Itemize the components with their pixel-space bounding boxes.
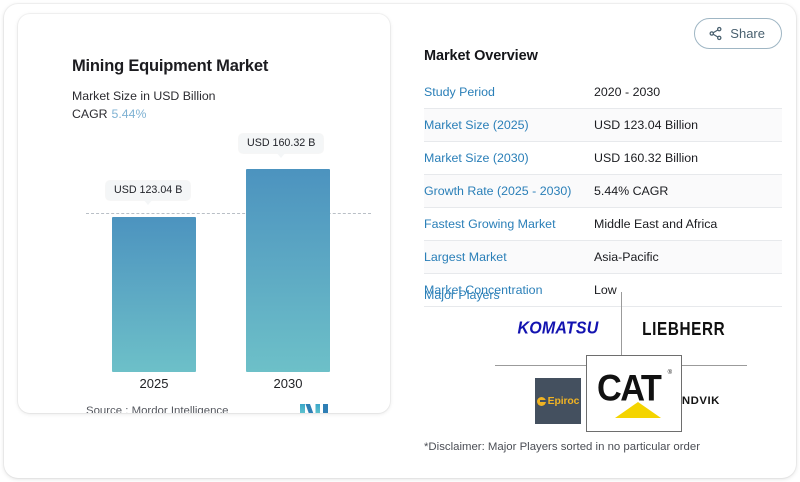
bar-value-label-2030: USD 160.32 B: [239, 134, 323, 153]
row-value: Asia-Pacific: [594, 241, 782, 274]
x-axis-tick-2030: 2030: [246, 376, 330, 391]
chart-card: Mining Equipment Market Market Size in U…: [18, 14, 390, 413]
market-overview-panel: Market Overview Study Period 2020 - 2030…: [424, 48, 782, 307]
table-row: Market Size (2025) USD 123.04 Billion: [424, 109, 782, 142]
cat-logo: CAT ®: [586, 355, 682, 432]
x-axis-tick-2025: 2025: [112, 376, 196, 391]
epiroc-wordmark: Epiroc: [548, 396, 580, 407]
row-key: Fastest Growing Market: [424, 208, 594, 241]
share-button[interactable]: Share: [694, 18, 782, 49]
row-value: 5.44% CAGR: [594, 175, 782, 208]
epiroc-mark-icon: [537, 397, 546, 406]
chart-cagr: CAGR5.44%: [72, 107, 146, 121]
table-row: Study Period 2020 - 2030: [424, 76, 782, 109]
overview-table: Study Period 2020 - 2030 Market Size (20…: [424, 76, 782, 307]
komatsu-logo: KOMATSU: [517, 319, 598, 339]
bar-2030[interactable]: [246, 169, 330, 372]
major-players-label: Major Players: [424, 288, 500, 302]
disclaimer-text: *Disclaimer: Major Players sorted in no …: [424, 441, 700, 453]
epiroc-logo: Epiroc: [535, 378, 581, 424]
logo-cell-komatsu: KOMATSU: [495, 294, 621, 364]
chart-subtitle: Market Size in USD Billion: [72, 89, 216, 103]
liebherr-logo: LIEBHERR: [642, 319, 725, 340]
logo-cell-liebherr: LIEBHERR: [621, 294, 747, 364]
cat-logo-inner: CAT ®: [597, 369, 671, 419]
mordor-intelligence-logo: [299, 402, 329, 413]
overview-title: Market Overview: [424, 48, 782, 64]
row-value: USD 123.04 Billion: [594, 109, 782, 142]
cat-triangle-icon: [615, 402, 661, 418]
cagr-value: 5.44%: [112, 107, 147, 121]
bar-chart-plot: USD 123.04 B USD 160.32 B 2025 2030: [72, 132, 372, 372]
source-text: Source : Mordor Intelligence: [86, 405, 228, 413]
table-row: Market Size (2030) USD 160.32 Billion: [424, 142, 782, 175]
table-row: Largest Market Asia-Pacific: [424, 241, 782, 274]
table-row: Fastest Growing Market Middle East and A…: [424, 208, 782, 241]
row-value: USD 160.32 Billion: [594, 142, 782, 175]
bar-value-label-2025: USD 123.04 B: [106, 181, 190, 200]
chart-title: Mining Equipment Market: [72, 57, 268, 76]
bar-2025[interactable]: [112, 217, 196, 372]
row-key: Growth Rate (2025 - 2030): [424, 175, 594, 208]
screenshot-root: Share Mining Equipment Market Market Siz…: [0, 0, 800, 482]
row-key: Market Size (2030): [424, 142, 594, 175]
share-icon: [708, 26, 723, 41]
table-row: Growth Rate (2025 - 2030) 5.44% CAGR: [424, 175, 782, 208]
registered-trademark-icon: ®: [668, 370, 672, 376]
row-key: Largest Market: [424, 241, 594, 274]
row-value: 2020 - 2030: [594, 76, 782, 109]
row-key: Market Size (2025): [424, 109, 594, 142]
row-value: Middle East and Africa: [594, 208, 782, 241]
row-key: Study Period: [424, 76, 594, 109]
share-label: Share: [730, 26, 765, 41]
cagr-label: CAGR: [72, 107, 108, 121]
